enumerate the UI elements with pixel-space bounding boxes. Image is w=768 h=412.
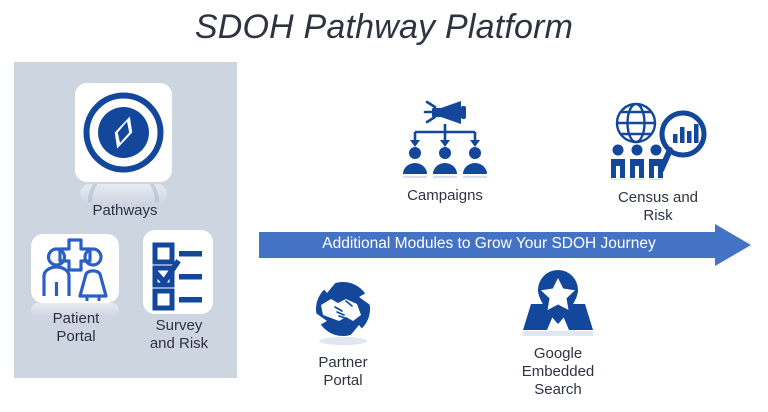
globe-people-magnifier-chart-icon bbox=[588, 100, 728, 185]
map-pin-star-icon bbox=[492, 268, 624, 341]
module-google-embedded-search[interactable]: Google Embedded Search bbox=[492, 268, 624, 399]
handshake-circular-arrows-icon bbox=[281, 277, 405, 350]
slide-canvas: SDOH Pathway Platform Pathways bbox=[0, 0, 768, 412]
page-title: SDOH Pathway Platform bbox=[0, 8, 768, 47]
megaphone-broadcast-people-icon bbox=[383, 100, 507, 183]
survey-and-risk-label: Survey and Risk bbox=[131, 317, 227, 353]
module-census-and-risk[interactable]: Census and Risk bbox=[588, 100, 728, 225]
core-platform-panel: Pathways Patient Porta bbox=[14, 62, 237, 378]
module-partner-portal[interactable]: Partner Portal bbox=[281, 277, 405, 390]
additional-modules-banner-text: Additional Modules to Grow Your SDOH Jou… bbox=[259, 233, 719, 255]
patient-people-cross-icon bbox=[31, 290, 119, 307]
census-and-risk-label: Census and Risk bbox=[588, 189, 728, 225]
campaigns-label: Campaigns bbox=[383, 187, 507, 205]
patient-portal-tile[interactable] bbox=[31, 234, 119, 303]
module-campaigns[interactable]: Campaigns bbox=[383, 100, 507, 205]
pathways-tile-reflection bbox=[80, 184, 167, 204]
patient-portal-label: Patient Portal bbox=[30, 310, 122, 346]
pathways-tile[interactable] bbox=[75, 83, 172, 182]
survey-and-risk-tile[interactable] bbox=[143, 230, 213, 314]
pathways-label: Pathways bbox=[55, 202, 195, 220]
google-embedded-search-label: Google Embedded Search bbox=[492, 345, 624, 399]
checklist-survey-icon bbox=[143, 301, 213, 318]
partner-portal-label: Partner Portal bbox=[281, 354, 405, 390]
pathways-logo-icon bbox=[75, 169, 172, 186]
